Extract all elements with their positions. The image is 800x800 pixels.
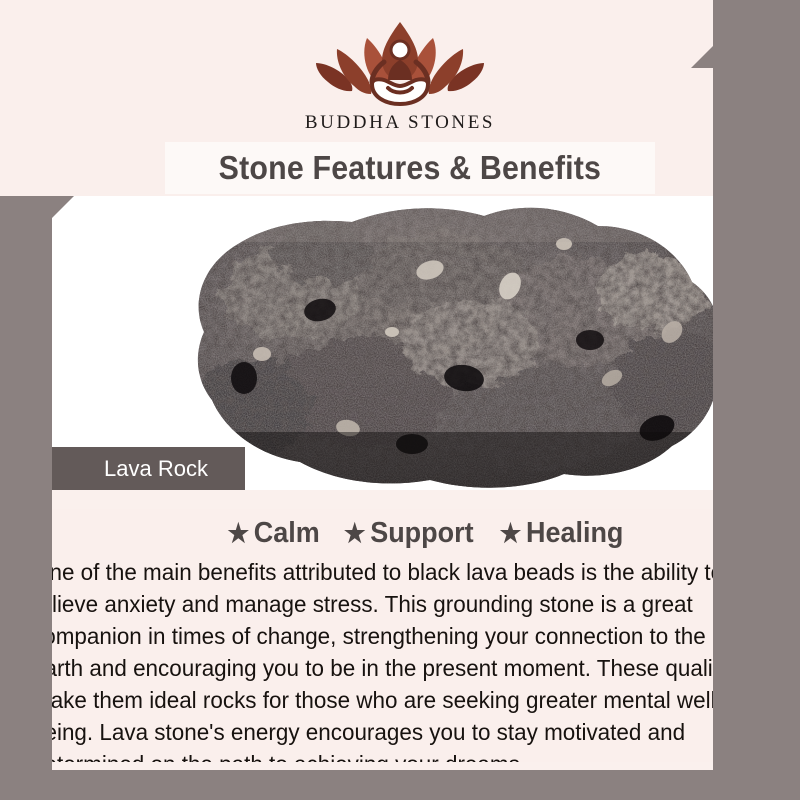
star-icon: ★: [227, 518, 249, 548]
frame-bevel-top-right: [691, 46, 713, 68]
frame-right-edge: [713, 0, 800, 800]
keyword-healing: ★Healing: [500, 517, 624, 550]
star-icon: ★: [344, 518, 366, 548]
frame-bottom-edge: [0, 770, 800, 800]
brand-logo: BUDDHA STONES: [0, 16, 800, 134]
frame-bevel-top-left: [52, 196, 74, 218]
page-title: Stone Features & Benefits: [219, 149, 602, 187]
keyword-support-label: Support: [371, 517, 474, 549]
benefits-description: One of the main benefits attributed to b…: [32, 556, 758, 780]
lotus-meditation-figure-icon: [310, 16, 490, 110]
frame-left-edge: [0, 196, 52, 800]
lava-rock-illustration: [112, 196, 772, 490]
star-icon: ★: [500, 518, 522, 548]
lava-rock-photo: [52, 196, 800, 490]
keyword-healing-label: Healing: [526, 517, 623, 549]
keyword-calm-label: Calm: [253, 517, 319, 549]
title-banner: Stone Features & Benefits: [165, 142, 655, 194]
brand-name: BUDDHA STONES: [0, 112, 800, 134]
keyword-row: ★Calm ★Support ★Healing: [52, 517, 800, 550]
bottom-cream-strip: [52, 762, 800, 770]
frame-bevel-bottom-right: [770, 748, 792, 770]
keyword-calm: ★Calm: [227, 517, 319, 550]
photo-divider: [52, 490, 800, 509]
photo-caption-band: Lava Rock: [20, 447, 245, 490]
stone-info-poster: BUDDHA STONES: [0, 0, 800, 800]
keyword-support: ★Support: [344, 517, 474, 550]
